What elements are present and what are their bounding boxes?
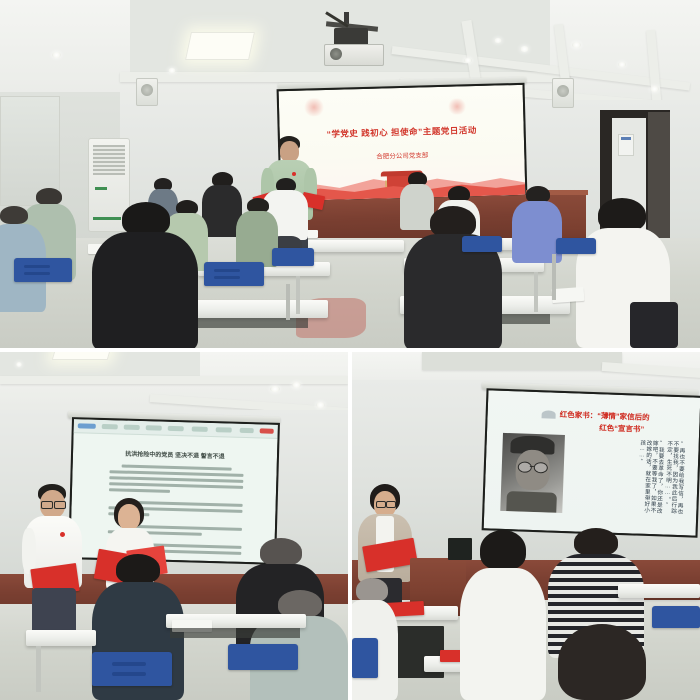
presenter-head <box>118 504 140 530</box>
downlight <box>520 46 529 52</box>
attendee-br <box>460 530 546 700</box>
quote-right-column: “再也不要给我写信，再也不要找我，因为我此后行踪不定，生死不明……。” <box>663 441 684 520</box>
presenter-arm <box>22 528 36 574</box>
ceiling-projector <box>318 12 390 68</box>
paper-on-desk <box>552 287 585 303</box>
presenter-male-bl <box>22 484 88 634</box>
downlight <box>572 42 581 48</box>
browser-tab <box>168 426 184 431</box>
chair <box>652 606 700 628</box>
attendee-hair <box>260 538 302 566</box>
door-notice <box>618 134 634 156</box>
ceiling-beam-br <box>422 352 622 370</box>
attendee-skirt <box>630 302 678 348</box>
notice-bar <box>621 137 631 140</box>
party-badge <box>292 172 296 176</box>
doc-line <box>122 465 232 471</box>
attendee-white-top <box>576 198 670 348</box>
attendee-ponytail <box>404 206 502 348</box>
slide-ornament-right <box>447 98 467 115</box>
browser-close-chip[interactable] <box>260 428 274 433</box>
desk-leg <box>36 646 41 692</box>
chair <box>204 262 264 286</box>
downlight <box>618 62 626 67</box>
desk-under-rack <box>170 628 300 638</box>
glasses-icon <box>54 501 66 509</box>
attendee-hair <box>480 530 526 570</box>
photo-panel-bottom-left: 抗洪抢险中的党员 坚决不退 誓言不退 <box>0 352 348 700</box>
downlight <box>168 68 176 73</box>
ac-indicator <box>95 187 107 190</box>
speaker-cone <box>557 85 569 97</box>
ceiling-panel-light-bl <box>52 352 113 360</box>
browser-tab <box>102 424 118 429</box>
wall-speaker <box>552 78 574 108</box>
slide-ornament-left <box>303 98 325 117</box>
photo-collage: “学党史 践初心 担使命”主题党日活动 合肥分公司党支部 <box>0 0 700 700</box>
chair <box>462 236 502 252</box>
attendee-torso <box>460 568 546 700</box>
attendee-torso <box>92 232 198 348</box>
attendee-hair <box>36 188 62 205</box>
downlight <box>270 386 280 392</box>
downlight <box>292 382 301 388</box>
downlight <box>494 38 502 43</box>
chair <box>556 238 596 254</box>
chair-slot <box>214 276 240 279</box>
chair-slot <box>24 265 50 268</box>
chair-slot <box>214 269 240 272</box>
glasses-icon <box>386 501 396 508</box>
attendee-black-shirt <box>92 202 198 348</box>
quote-left-column: “我要去革命了，你还是改嫁吧，不要等我了，如果不改嫁的话，就在家里带好小孩……” <box>636 440 664 519</box>
glasses-bridge <box>530 466 534 467</box>
browser-tab <box>240 428 254 433</box>
ac-grill <box>93 145 125 175</box>
chair-slot <box>112 672 146 676</box>
attendee-hair <box>116 554 160 584</box>
chair <box>352 638 378 678</box>
party-badge <box>60 532 65 537</box>
slide-bottom-right: 红色家书：“薄情”家信后的 红色“宣言书” “再也不要给我写信，再也不要找我，因… <box>484 390 700 535</box>
portrait-uniform-collar <box>506 491 557 513</box>
chair <box>92 652 172 686</box>
downlight <box>650 86 659 92</box>
desk-leg <box>296 276 300 314</box>
downlight <box>16 362 22 367</box>
browser-tab <box>216 427 232 432</box>
slide-br-title-line1: 红色家书：“薄情”家信后的 <box>559 409 649 423</box>
slide-bl-heading: 抗洪抢险中的党员 坚决不退 誓言不退 <box>73 447 277 462</box>
projector-lens <box>330 48 342 60</box>
presenter-legs <box>32 588 76 634</box>
chair <box>228 644 298 670</box>
chair <box>272 248 314 266</box>
presenter-head <box>280 141 299 162</box>
wall-speaker <box>136 78 158 106</box>
desk-bl <box>26 630 96 646</box>
projector-screen-bottom-right: 红色家书：“薄情”家信后的 红色“宣言书” “再也不要给我写信，再也不要找我，因… <box>484 390 700 535</box>
downlight <box>52 52 61 58</box>
doc-line <box>109 488 170 493</box>
browser-tab <box>146 425 162 430</box>
glasses-icon <box>376 501 386 508</box>
chair-slot <box>112 662 146 666</box>
attendee-hair <box>122 202 170 236</box>
ceiling-panel-light <box>185 32 255 60</box>
martyr-portrait <box>500 433 565 513</box>
photo-panel-top: “学党史 践初心 担使命”主题党日活动 合肥分公司党支部 <box>0 0 700 348</box>
chair-leg <box>286 284 290 320</box>
attendee-hair <box>574 528 618 556</box>
glasses-icon <box>41 501 53 509</box>
projector-screen-frame-br: 红色家书：“薄情”家信后的 红色“宣言书” “再也不要给我写信，再也不要找我，因… <box>482 388 700 537</box>
browser-tab <box>124 425 140 430</box>
speaker-cone <box>141 84 153 96</box>
downlight <box>464 58 472 63</box>
desk-br <box>618 584 700 598</box>
quote-columns: “再也不要给我写信，再也不要找我，因为我此后行踪不定，生死不明……。” “我要去… <box>576 438 685 524</box>
browser-tab <box>78 423 96 429</box>
chair-slot <box>24 272 50 275</box>
downlight <box>316 402 325 408</box>
chair-leg <box>552 254 556 300</box>
attendee-hair <box>558 624 646 700</box>
browser-toolbar <box>74 419 278 439</box>
attendee-hair <box>0 206 28 224</box>
browser-tab <box>192 426 208 431</box>
attendee-br <box>542 624 662 700</box>
attendee-hair <box>598 198 646 232</box>
desk-leg <box>534 272 538 312</box>
slide-br-ornament <box>542 410 556 418</box>
chair <box>14 258 72 282</box>
attendee-hair <box>356 578 388 602</box>
photo-panel-bottom-right: 红色家书：“薄情”家信后的 红色“宣言书” “再也不要给我写信，再也不要找我，因… <box>352 352 700 700</box>
slide-br-title-line2: 红色“宣言书” <box>599 422 644 435</box>
